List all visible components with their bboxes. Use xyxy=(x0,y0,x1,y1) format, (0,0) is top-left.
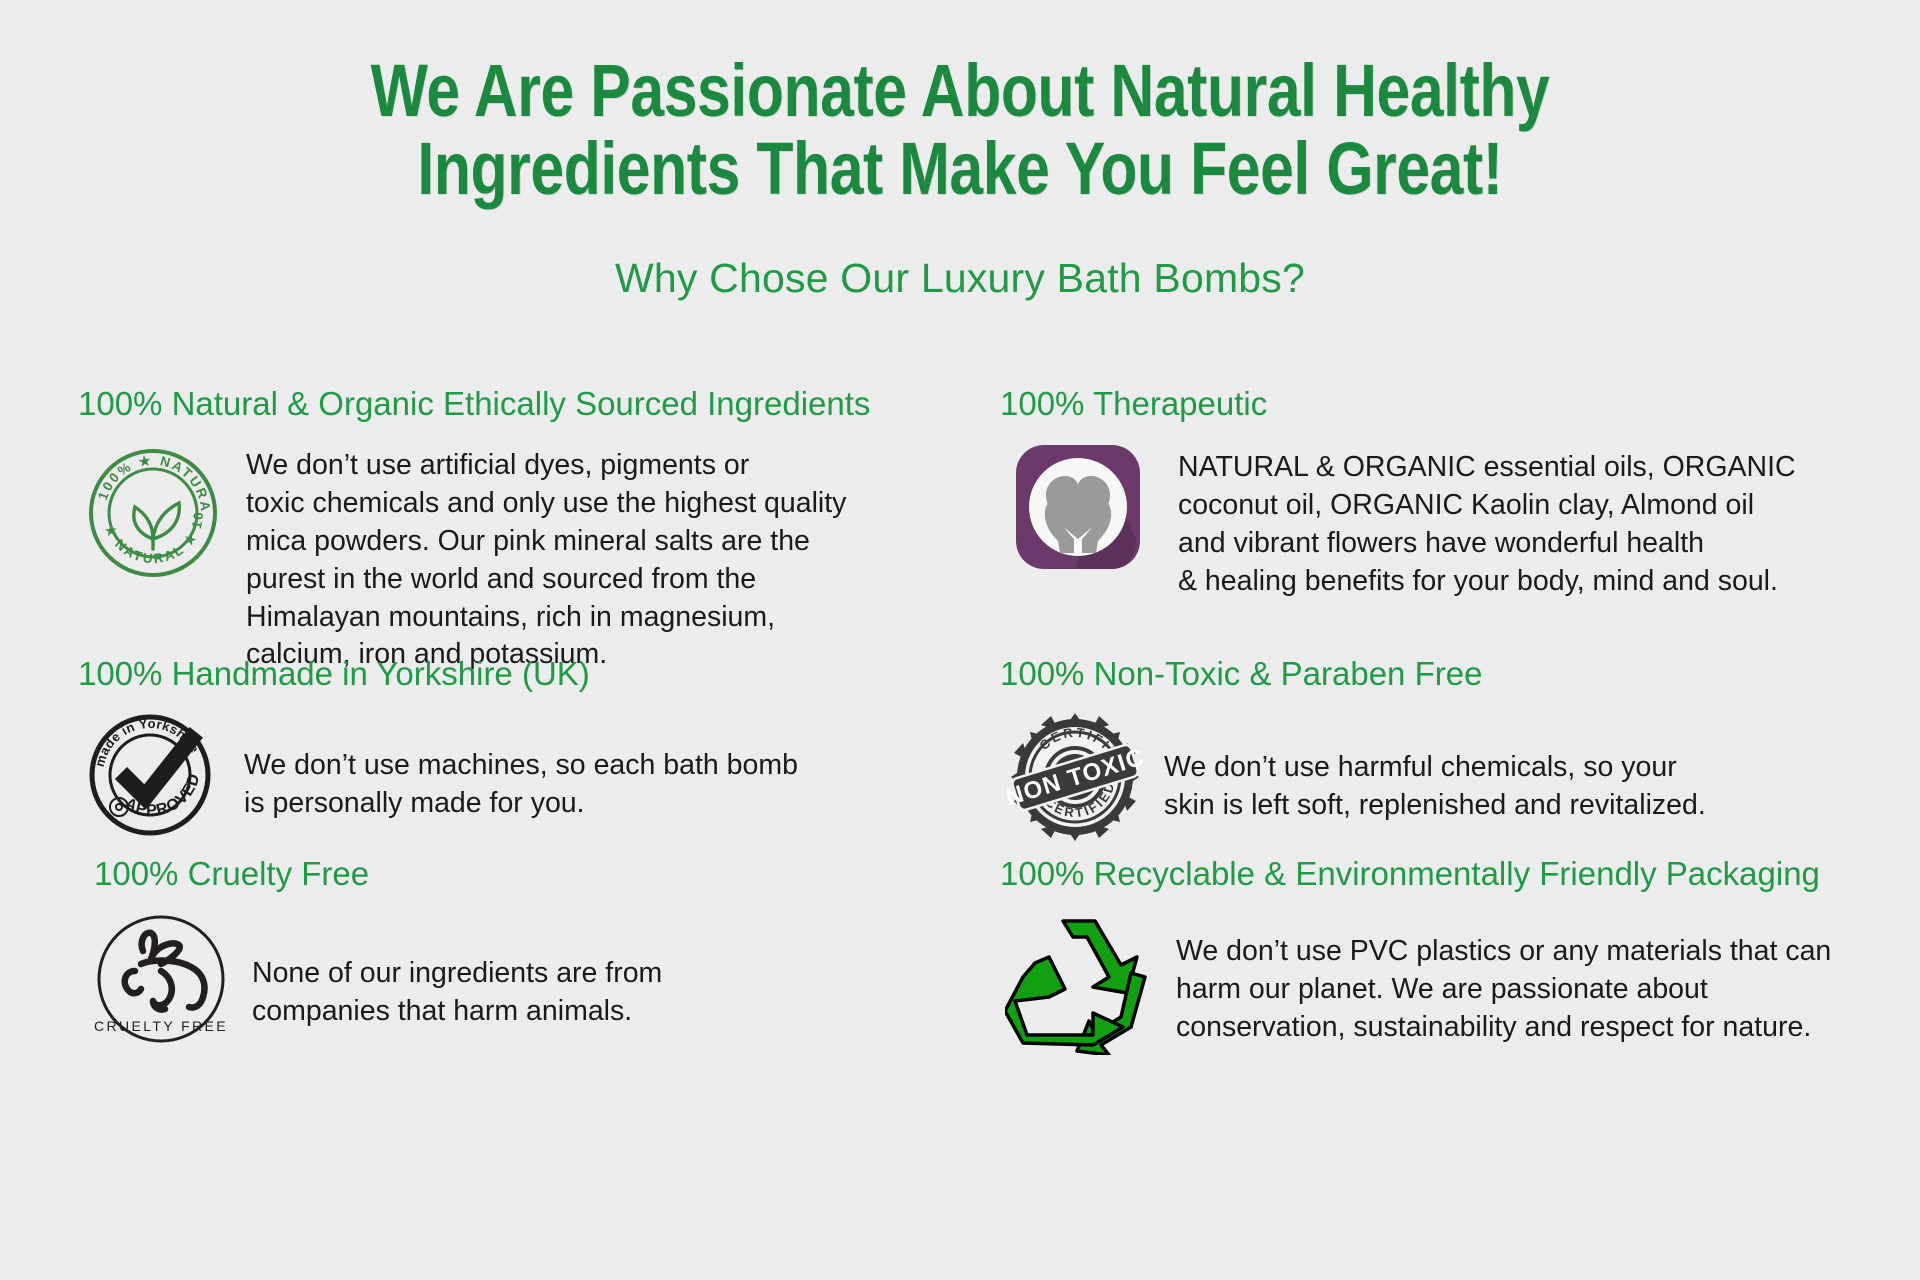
cruelty-free-label: CRUELTY FREE xyxy=(94,1018,228,1034)
feature-heading-handmade-yorkshire: 100% Handmade in Yorkshire (UK) xyxy=(78,655,798,693)
feature-heading-non-toxic: 100% Non-Toxic & Paraben Free xyxy=(1000,655,1706,693)
feature-handmade-yorkshire: 100% Handmade in Yorkshire (UK) made in … xyxy=(78,655,798,837)
header: We Are Passionate About Natural Healthy … xyxy=(0,0,1920,302)
recycling-symbol-icon xyxy=(1000,907,1160,1055)
feature-body-natural-organic: 100% ★ NATURAL ★ NATURAL ★ 100% xyxy=(78,437,870,674)
made-in-yorkshire-approved-stamp-icon: made in Yorkshire APPROVED xyxy=(78,707,228,837)
natural-100-stamp-icon: 100% ★ NATURAL ★ NATURAL ★ 100% xyxy=(78,437,228,583)
feature-body-therapeutic: NATURAL & ORGANIC essential oils, ORGANI… xyxy=(1000,437,1796,601)
feature-therapeutic: 100% Therapeutic xyxy=(1000,385,1796,601)
feature-text-cruelty-free: None of our ingredients are from compani… xyxy=(252,907,662,1031)
feature-recyclable: 100% Recyclable & Environmentally Friend… xyxy=(1000,855,1831,1055)
certified-non-toxic-stamp-icon: · CERTIFIED · · CERTIFIED · NON TOXIC xyxy=(1000,707,1150,845)
feature-text-therapeutic: NATURAL & ORGANIC essential oils, ORGANI… xyxy=(1178,437,1796,601)
feature-body-handmade-yorkshire: made in Yorkshire APPROVED xyxy=(78,707,798,837)
feature-text-non-toxic: We don’t use harmful chemicals, so your … xyxy=(1164,707,1706,825)
feature-text-handmade-yorkshire: We don’t use machines, so each bath bomb… xyxy=(244,707,798,823)
heart-in-hands-icon xyxy=(1000,437,1156,571)
feature-cruelty-free: 100% Cruelty Free xyxy=(86,855,662,1049)
page-subtitle: Why Chose Our Luxury Bath Bombs? xyxy=(0,255,1920,302)
feature-non-toxic: 100% Non-Toxic & Paraben Free xyxy=(1000,655,1706,845)
page-title: We Are Passionate About Natural Healthy … xyxy=(288,52,1633,209)
page-title-line-1: We Are Passionate About Natural Healthy xyxy=(288,52,1633,130)
feature-heading-therapeutic: 100% Therapeutic xyxy=(1000,385,1796,423)
feature-natural-organic: 100% Natural & Organic Ethically Sourced… xyxy=(78,385,870,674)
feature-body-recyclable: We don’t use PVC plastics or any materia… xyxy=(1000,907,1831,1055)
feature-text-recyclable: We don’t use PVC plastics or any materia… xyxy=(1176,907,1831,1047)
feature-text-natural-organic: We don’t use artificial dyes, pigments o… xyxy=(246,437,846,674)
feature-heading-natural-organic: 100% Natural & Organic Ethically Sourced… xyxy=(78,385,870,423)
page-title-line-2: Ingredients That Make You Feel Great! xyxy=(288,130,1633,208)
feature-heading-cruelty-free: 100% Cruelty Free xyxy=(94,855,662,893)
feature-grid: 100% Natural & Organic Ethically Sourced… xyxy=(0,385,1920,1255)
infographic-page: We Are Passionate About Natural Healthy … xyxy=(0,0,1920,1280)
feature-heading-recyclable: 100% Recyclable & Environmentally Friend… xyxy=(1000,855,1831,893)
cruelty-free-rabbit-icon: CRUELTY FREE xyxy=(86,907,236,1049)
feature-body-cruelty-free: CRUELTY FREE None of our ingredients are… xyxy=(86,907,662,1049)
feature-body-non-toxic: · CERTIFIED · · CERTIFIED · NON TOXIC xyxy=(1000,707,1706,845)
